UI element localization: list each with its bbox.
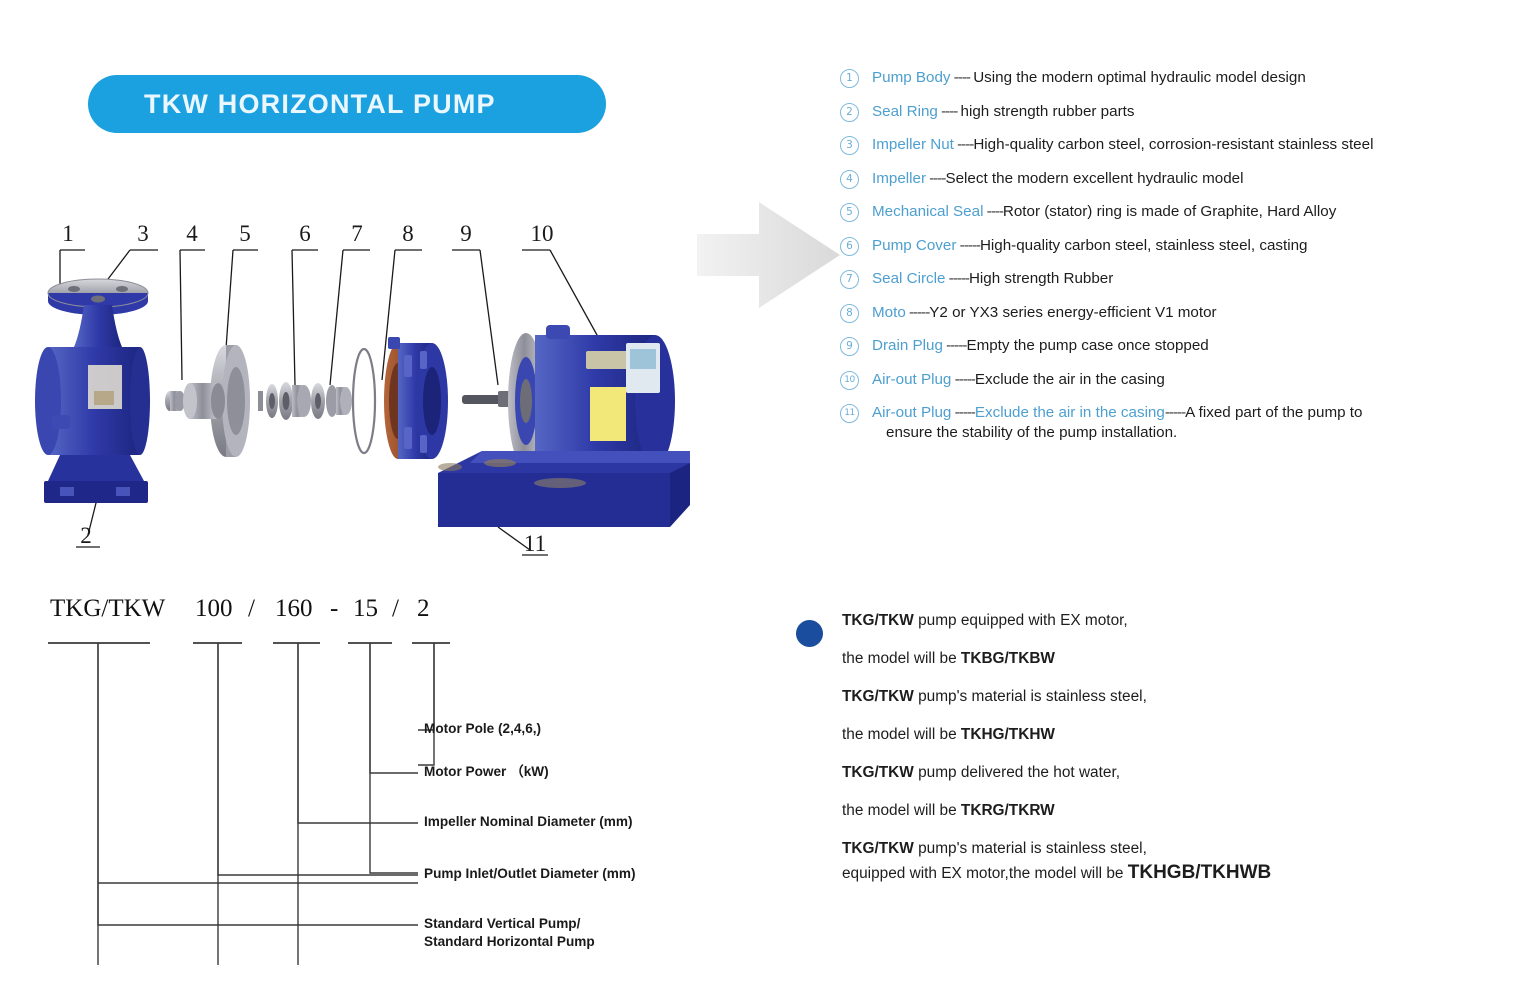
legend-dash: ----: [926, 170, 945, 187]
variant-line-1: TKG/TKW pump equipped with EX motor,: [842, 612, 1496, 629]
legend-number-icon: 5: [840, 203, 859, 222]
legend-item-4: 4 Impeller ----Select the modern excelle…: [840, 169, 1500, 189]
legend-number-icon: 3: [840, 136, 859, 155]
legend-dash: ----: [954, 136, 973, 153]
variant-line-5: TKG/TKW pump delivered the hot water,: [842, 764, 1496, 781]
label-standard-pump: Standard Vertical Pump/ Standard Horizon…: [424, 915, 595, 951]
legend-item-3: 3 Impeller Nut ----High-quality carbon s…: [840, 135, 1500, 155]
legend-description: High strength Rubber: [969, 270, 1113, 287]
variant-model: TKRG/TKRW: [961, 802, 1055, 819]
legend-description-blue: Exclude the air in the casing: [975, 404, 1165, 421]
label-impeller-diameter: Impeller Nominal Diameter (mm): [424, 813, 633, 831]
variant-text: the model will be: [842, 802, 961, 819]
impeller-part: [183, 345, 250, 457]
variant-line-8: equipped with EX motor,the model will be…: [842, 864, 1496, 882]
variant-text: equipped with EX motor,the model will be: [842, 865, 1128, 882]
variant-text: pump's material is stainless steel,: [914, 688, 1147, 705]
variant-line-2: the model will be TKBG/TKBW: [842, 650, 1496, 667]
legend-description: A fixed part of the pump to: [1185, 404, 1362, 421]
page-title-banner: TKW HORIZONTAL PUMP: [88, 75, 606, 133]
variant-text: the model will be: [842, 726, 961, 743]
variant-model: TKBG/TKBW: [961, 650, 1055, 667]
variant-prefix: TKG/TKW: [842, 764, 914, 781]
legend-dash: -----: [956, 237, 980, 254]
legend-item-9: 9 Drain Plug -----Empty the pump case on…: [840, 336, 1500, 356]
legend-dash-2: -----: [1165, 404, 1185, 421]
callout-6: 6: [299, 221, 311, 246]
legend-part-name: Air-out Plug: [872, 404, 951, 421]
legend-description: Using the modern optimal hydraulic model…: [973, 69, 1306, 86]
legend-number-icon: 6: [840, 237, 859, 256]
callout-11: 11: [524, 531, 546, 556]
legend-description: Y2 or YX3 series energy-efficient V1 mot…: [929, 304, 1216, 321]
variant-model: TKHGB/TKHWB: [1128, 862, 1272, 883]
legend-description-continued: ensure the stability of the pump install…: [886, 423, 1500, 443]
legend-part-name: Moto: [872, 304, 906, 321]
legend-number-icon: 7: [840, 270, 859, 289]
callout-7: 7: [351, 221, 363, 246]
legend-item-7: 7 Seal Circle -----High strength Rubber: [840, 269, 1500, 289]
callout-8: 8: [402, 221, 414, 246]
impeller-nut-part: [165, 391, 185, 411]
legend-number-icon: 2: [840, 103, 859, 122]
legend-dash: ----: [938, 103, 961, 120]
legend-part-name: Air-out Plug: [872, 371, 951, 388]
seal-circle-part: [353, 349, 375, 453]
legend-part-name: Impeller: [872, 170, 926, 187]
pump-cover-part: [384, 337, 448, 459]
variant-line-3: TKG/TKW pump's material is stainless ste…: [842, 688, 1496, 705]
flow-arrow-icon: [697, 196, 842, 314]
variant-text: pump's material is stainless steel,: [914, 840, 1147, 857]
label-standard-vertical: Standard Vertical Pump/: [424, 916, 580, 931]
legend-dash: -----: [951, 404, 975, 421]
base-plate-part: [438, 451, 690, 527]
label-standard-horizontal: Standard Horizontal Pump: [424, 934, 595, 949]
variant-text: pump equipped with EX motor,: [914, 612, 1128, 629]
legend-description: high strength rubber parts: [961, 103, 1135, 120]
legend-description: Exclude the air in the casing: [975, 371, 1165, 388]
bullet-dot-icon: [796, 620, 823, 647]
legend-number-icon: 11: [840, 404, 859, 423]
legend-dash: -----: [951, 371, 975, 388]
legend-item-10: 10 Air-out Plug -----Exclude the air in …: [840, 370, 1500, 390]
legend-number-icon: 4: [840, 170, 859, 189]
variant-line-6: the model will be TKRG/TKRW: [842, 802, 1496, 819]
legend-item-1: 1 Pump Body ---- Using the modern optima…: [840, 68, 1500, 88]
variant-line-7: TKG/TKW pump's material is stainless ste…: [842, 840, 1496, 857]
callout-10: 10: [531, 221, 554, 246]
variant-prefix: TKG/TKW: [842, 688, 914, 705]
model-designation-diagram: TKG/TKW 100 / 160 - 15 / 2: [30, 595, 730, 965]
variant-prefix: TKG/TKW: [842, 612, 914, 629]
callout-3: 3: [137, 221, 149, 246]
label-motor-pole: Motor Pole (2,4,6,): [424, 720, 541, 738]
callout-4: 4: [186, 221, 198, 246]
legend-number-icon: 10: [840, 371, 859, 390]
legend-description: High-quality carbon steel, corrosion-res…: [973, 136, 1373, 153]
parts-legend-list: 1 Pump Body ---- Using the modern optima…: [840, 68, 1500, 457]
legend-part-name: Seal Ring: [872, 103, 938, 120]
legend-description: Empty the pump case once stopped: [966, 337, 1208, 354]
legend-number-icon: 1: [840, 69, 859, 88]
legend-part-name: Seal Circle: [872, 270, 945, 287]
legend-dash: -----: [945, 270, 969, 287]
model-variant-notes: TKG/TKW pump equipped with EX motor, the…: [796, 612, 1496, 903]
callout-9: 9: [460, 221, 472, 246]
label-motor-power: Motor Power （kW): [424, 763, 549, 781]
label-inlet-outlet-diameter: Pump Inlet/Outlet Diameter (mm): [424, 865, 636, 883]
legend-item-8: 8 Moto -----Y2 or YX3 series energy-effi…: [840, 303, 1500, 323]
page-title: TKW HORIZONTAL PUMP: [144, 89, 496, 120]
mechanical-seal-part: [258, 382, 352, 420]
exploded-pump-diagram: 1 3 4 5 6 7 8 9 10 2 11: [30, 205, 720, 575]
legend-part-name: Drain Plug: [872, 337, 943, 354]
legend-description: Rotor (stator) ring is made of Graphite,…: [1003, 203, 1336, 220]
legend-item-11: 11 Air-out Plug -----Exclude the air in …: [840, 403, 1500, 443]
legend-dash: ----: [983, 203, 1002, 220]
legend-description: Select the modern excellent hydraulic mo…: [945, 170, 1243, 187]
legend-part-name: Impeller Nut: [872, 136, 954, 153]
variant-text: the model will be: [842, 650, 961, 667]
legend-number-icon: 9: [840, 337, 859, 356]
model-leader-lines-2: [30, 595, 730, 965]
callout-2: 2: [80, 523, 92, 548]
variant-text: pump delivered the hot water,: [914, 764, 1120, 781]
callout-5: 5: [239, 221, 251, 246]
legend-part-name: Pump Body: [872, 69, 951, 86]
variant-line-4: the model will be TKHG/TKHW: [842, 726, 1496, 743]
legend-description: High-quality carbon steel, stainless ste…: [980, 237, 1308, 254]
legend-item-5: 5 Mechanical Seal ----Rotor (stator) rin…: [840, 202, 1500, 222]
pump-body-part: [35, 279, 150, 503]
legend-part-name: Pump Cover: [872, 237, 956, 254]
legend-item-2: 2 Seal Ring ---- high strength rubber pa…: [840, 102, 1500, 122]
variant-lines: TKG/TKW pump equipped with EX motor, the…: [842, 612, 1496, 882]
legend-dash: -----: [943, 337, 967, 354]
legend-number-icon: 8: [840, 304, 859, 323]
legend-item-6: 6 Pump Cover -----High-quality carbon st…: [840, 236, 1500, 256]
legend-dash: -----: [906, 304, 930, 321]
callout-1: 1: [62, 221, 74, 246]
legend-dash: ----: [951, 69, 974, 86]
variant-prefix: TKG/TKW: [842, 840, 914, 857]
legend-part-name: Mechanical Seal: [872, 203, 983, 220]
variant-model: TKHG/TKHW: [961, 726, 1055, 743]
